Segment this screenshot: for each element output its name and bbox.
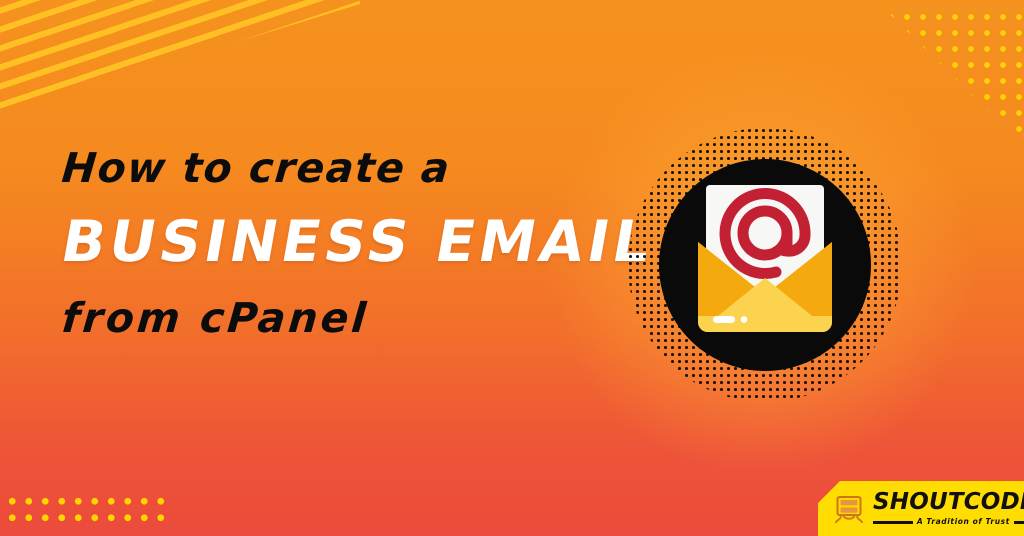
headline-line-2: BUSINESS EMAIL [57,214,627,271]
email-envelope-illustration [620,120,910,410]
headline-line-3: from cPanel [60,298,624,339]
logo-tagline-row: A Tradition of Trust [873,518,1024,526]
shoutcoder-logo-badge[interactable]: SHOUTCODER A Tradition of Trust [818,481,1024,536]
envelope-mark-dot [741,316,748,323]
headline-line-1: How to create a [60,148,624,189]
dot-rows-bottom-left-decoration [2,491,172,524]
tagline-rule-right [1014,521,1024,524]
diagonal-stripes-decoration [0,0,360,140]
headline-block: How to create a BUSINESS EMAIL from cPan… [62,148,622,339]
promo-banner: How to create a BUSINESS EMAIL from cPan… [0,0,1024,536]
envelope-mark-bar [713,316,735,323]
logo-tagline: A Tradition of Trust [917,518,1010,526]
logo-wordmark: SHOUTCODER [873,491,1024,514]
drawer-cabinet-icon [832,492,866,526]
logo-text-block: SHOUTCODER A Tradition of Trust [873,491,1024,526]
tagline-rule-left [873,521,913,524]
